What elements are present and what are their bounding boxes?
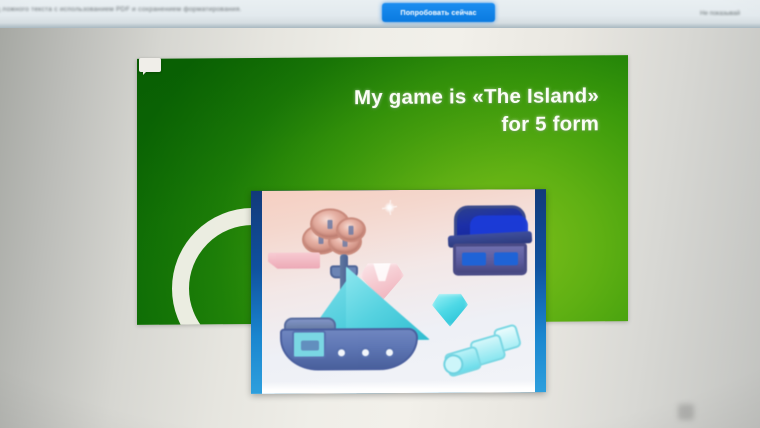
cyan-gem-icon xyxy=(432,294,468,327)
try-now-button[interactable]: Попробовать сейчас xyxy=(382,3,495,22)
try-now-button-label: Попробовать сейчас xyxy=(382,3,495,22)
dismiss-link[interactable]: Не показывай xyxy=(700,10,740,17)
pirate-ship-icon xyxy=(274,252,424,371)
sparkle-icon xyxy=(382,200,397,215)
treasure-chest-icon xyxy=(448,205,532,278)
slide-title-line-1: My game is «The Island» xyxy=(354,82,599,112)
promo-description: д ложного текста с использованием PDF и … xyxy=(0,6,356,13)
slide-title-line-2: for 5 form xyxy=(354,111,599,141)
slide-image-card[interactable] xyxy=(251,189,546,394)
screen-smudge xyxy=(678,404,694,420)
comment-marker-icon[interactable] xyxy=(139,58,161,72)
spyglass-icon xyxy=(439,319,526,383)
slide-title: My game is «The Island» for 5 form xyxy=(354,82,599,140)
slide-image-canvas xyxy=(262,189,535,394)
top-promo-bar: д ложного текста с использованием PDF и … xyxy=(0,0,760,28)
photo-of-screen: д ложного текста с использованием PDF и … xyxy=(0,0,760,428)
